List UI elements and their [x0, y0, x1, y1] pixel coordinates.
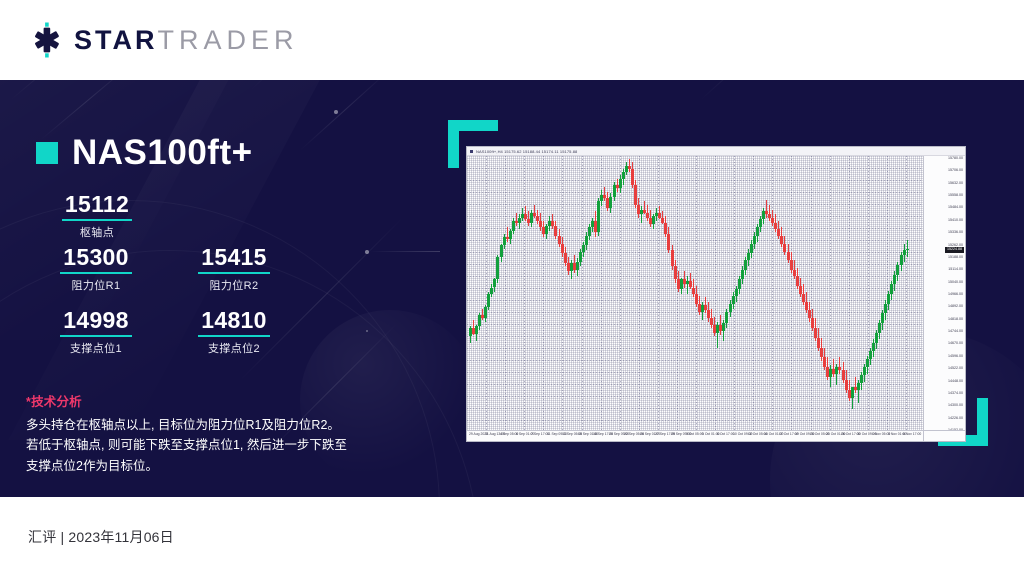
- price-axis-tick: 15188.00: [948, 256, 963, 260]
- time-axis-tick: 6 Nov 17:00: [903, 433, 921, 436]
- price-axis-tick: 15336.00: [948, 231, 963, 235]
- chart-gridline-vertical: [620, 156, 621, 430]
- level-cell-s2: 14810 支撑点位2: [174, 308, 294, 356]
- level-underline: [198, 272, 270, 274]
- chart-gridline-vertical: [715, 156, 716, 430]
- chart-gridline-vertical: [543, 156, 544, 430]
- level-cell-r2: 15415 阻力位R2: [174, 245, 294, 293]
- chart-header: NAS100ft+,H4 15175.62 15188.44 15174.11 …: [467, 147, 965, 156]
- price-axis-tick: 15114.00: [948, 268, 963, 272]
- price-axis-tick: 15484.00: [948, 206, 963, 210]
- levels-grid: 15300 阻力位R1 15415 阻力位R2 14998 支撑点位1 1481…: [36, 245, 296, 356]
- chart-plot-area: [467, 156, 923, 430]
- title-bullet-square: [36, 142, 58, 164]
- price-axis-tick: 15706.00: [948, 169, 963, 173]
- level-cell-s1: 14998 支撑点位1: [36, 308, 156, 356]
- chart-gridline-horizontal: [467, 240, 923, 241]
- chart-header-text: NAS100ft+,H4 15175.62 15188.44 15174.11 …: [476, 147, 577, 156]
- price-axis-tick: 15410.00: [948, 219, 963, 223]
- analysis-heading: *技术分析: [26, 391, 426, 410]
- chart-gridline-horizontal: [467, 348, 923, 349]
- slide-root: STAR TRADER: [0, 0, 1024, 576]
- brand-name-bold: STAR: [74, 25, 158, 56]
- analysis-line: 若低于枢轴点, 则可能下跌至支撑点位1, 然后进一步下跌至: [26, 435, 426, 455]
- instrument-name: NAS100ft+: [72, 133, 253, 173]
- analysis-body: 多头持仓在枢轴点以上, 目标位为阻力位R1及阻力位R2。 若低于枢轴点, 则可能…: [26, 415, 426, 476]
- level-underline: [60, 335, 132, 337]
- level-label: 阻力位R1: [36, 277, 156, 293]
- page-title: NAS100ft+: [36, 133, 253, 173]
- chart-gridline-horizontal: [467, 192, 923, 193]
- chart-gridline-horizontal: [467, 360, 923, 361]
- analysis-line: 多头持仓在枢轴点以上, 目标位为阻力位R1及阻力位R2。: [26, 415, 426, 435]
- price-axis-tick: 14374.00: [948, 392, 963, 396]
- chart-gridline-horizontal: [467, 420, 923, 421]
- chart-symbol-icon: [470, 150, 473, 153]
- price-axis-tick: 14300.00: [948, 404, 963, 408]
- chart-gridline-horizontal: [467, 372, 923, 373]
- price-axis-tick: 14448.00: [948, 380, 963, 384]
- price-axis-tick: 14522.00: [948, 367, 963, 371]
- price-axis-tick: 14966.00: [948, 293, 963, 297]
- price-axis-tick: 14892.00: [948, 305, 963, 309]
- chart-gridline-horizontal: [467, 288, 923, 289]
- level-value: 14998: [36, 308, 156, 332]
- chart-gridline-horizontal: [467, 276, 923, 277]
- price-axis-tick: 15780.00: [948, 157, 963, 161]
- level-underline: [60, 272, 132, 274]
- time-axis-tick: 3 Oct 05:00: [686, 433, 704, 436]
- price-axis[interactable]: 15780.0015706.0015632.0015558.0015484.00…: [923, 156, 965, 430]
- chart-gridline-horizontal: [467, 408, 923, 409]
- chart-gridline-vertical: [639, 156, 640, 430]
- chart-gridline-vertical: [582, 156, 583, 430]
- chart-gridline-vertical: [906, 156, 907, 430]
- level-label: 阻力位R2: [174, 277, 294, 293]
- analysis-line: 支撑点位2作为目标位。: [26, 456, 426, 476]
- chart-gridline-vertical: [524, 156, 525, 430]
- price-axis-tick: 14226.00: [948, 417, 963, 421]
- brand-name-light: TRADER: [158, 25, 299, 56]
- price-axis-tick: 14596.00: [948, 355, 963, 359]
- chart-gridline-horizontal: [467, 336, 923, 337]
- chart-gridline-horizontal: [467, 204, 923, 205]
- level-cell-r1: 15300 阻力位R1: [36, 245, 156, 293]
- chart-gridline-vertical: [811, 156, 812, 430]
- chart-gridline-vertical: [486, 156, 487, 430]
- chart-gridline-vertical: [562, 156, 563, 430]
- chart-gridline-vertical: [830, 156, 831, 430]
- pivot-underline: [62, 219, 132, 221]
- chart-gridline-vertical: [772, 156, 773, 430]
- price-axis-tick: 15040.00: [948, 281, 963, 285]
- level-value: 15415: [174, 245, 294, 269]
- footer-bar: 汇评 | 2023年11月06日: [0, 497, 1024, 576]
- axis-corner: [923, 430, 965, 441]
- chart-gridline-horizontal: [467, 396, 923, 397]
- price-axis-tick: 14670.00: [948, 342, 963, 346]
- price-chart[interactable]: NAS100ft+,H4 15175.62 15188.44 15174.11 …: [466, 146, 966, 442]
- technical-analysis: *技术分析 多头持仓在枢轴点以上, 目标位为阻力位R1及阻力位R2。 若低于枢轴…: [26, 391, 426, 476]
- time-axis-tick: 6 Oct 17:00: [717, 433, 735, 436]
- chart-gridline-vertical: [791, 156, 792, 430]
- pivot-value: 15112: [62, 192, 132, 216]
- asterisk-star-icon: [28, 21, 66, 59]
- current-price-tag: 15224.88: [945, 247, 964, 253]
- chart-gridline-horizontal: [467, 168, 923, 169]
- price-axis-tick: 14818.00: [948, 318, 963, 322]
- chart-gridline-vertical: [505, 156, 506, 430]
- header-bar: STAR TRADER: [0, 0, 1024, 80]
- chart-gridline-horizontal: [467, 324, 923, 325]
- pivot-stat: 15112 枢轴点: [62, 192, 132, 240]
- pivot-label: 枢轴点: [62, 224, 132, 240]
- price-axis-tick: 15632.00: [948, 182, 963, 186]
- price-axis-tick: 14744.00: [948, 330, 963, 334]
- brand-logo[interactable]: STAR TRADER: [28, 21, 299, 59]
- level-underline: [198, 335, 270, 337]
- level-label: 支撑点位2: [174, 340, 294, 356]
- level-value: 14810: [174, 308, 294, 332]
- chart-gridline-vertical: [868, 156, 869, 430]
- time-axis[interactable]: 29 Aug 202331 Aug 13:004 Sep 05:006 Sep …: [467, 430, 923, 441]
- chart-gridline-vertical: [658, 156, 659, 430]
- level-value: 15300: [36, 245, 156, 269]
- chart-gridline-horizontal: [467, 252, 923, 253]
- price-axis-tick: 15558.00: [948, 194, 963, 198]
- chart-gridline-horizontal: [467, 228, 923, 229]
- chart-gridline-horizontal: [467, 312, 923, 313]
- chart-gridline-vertical: [753, 156, 754, 430]
- chart-gridline-horizontal: [467, 180, 923, 181]
- footer-text: 汇评 | 2023年11月06日: [28, 527, 174, 547]
- level-label: 支撑点位1: [36, 340, 156, 356]
- chart-gridline-vertical: [677, 156, 678, 430]
- chart-gridline-horizontal: [467, 264, 923, 265]
